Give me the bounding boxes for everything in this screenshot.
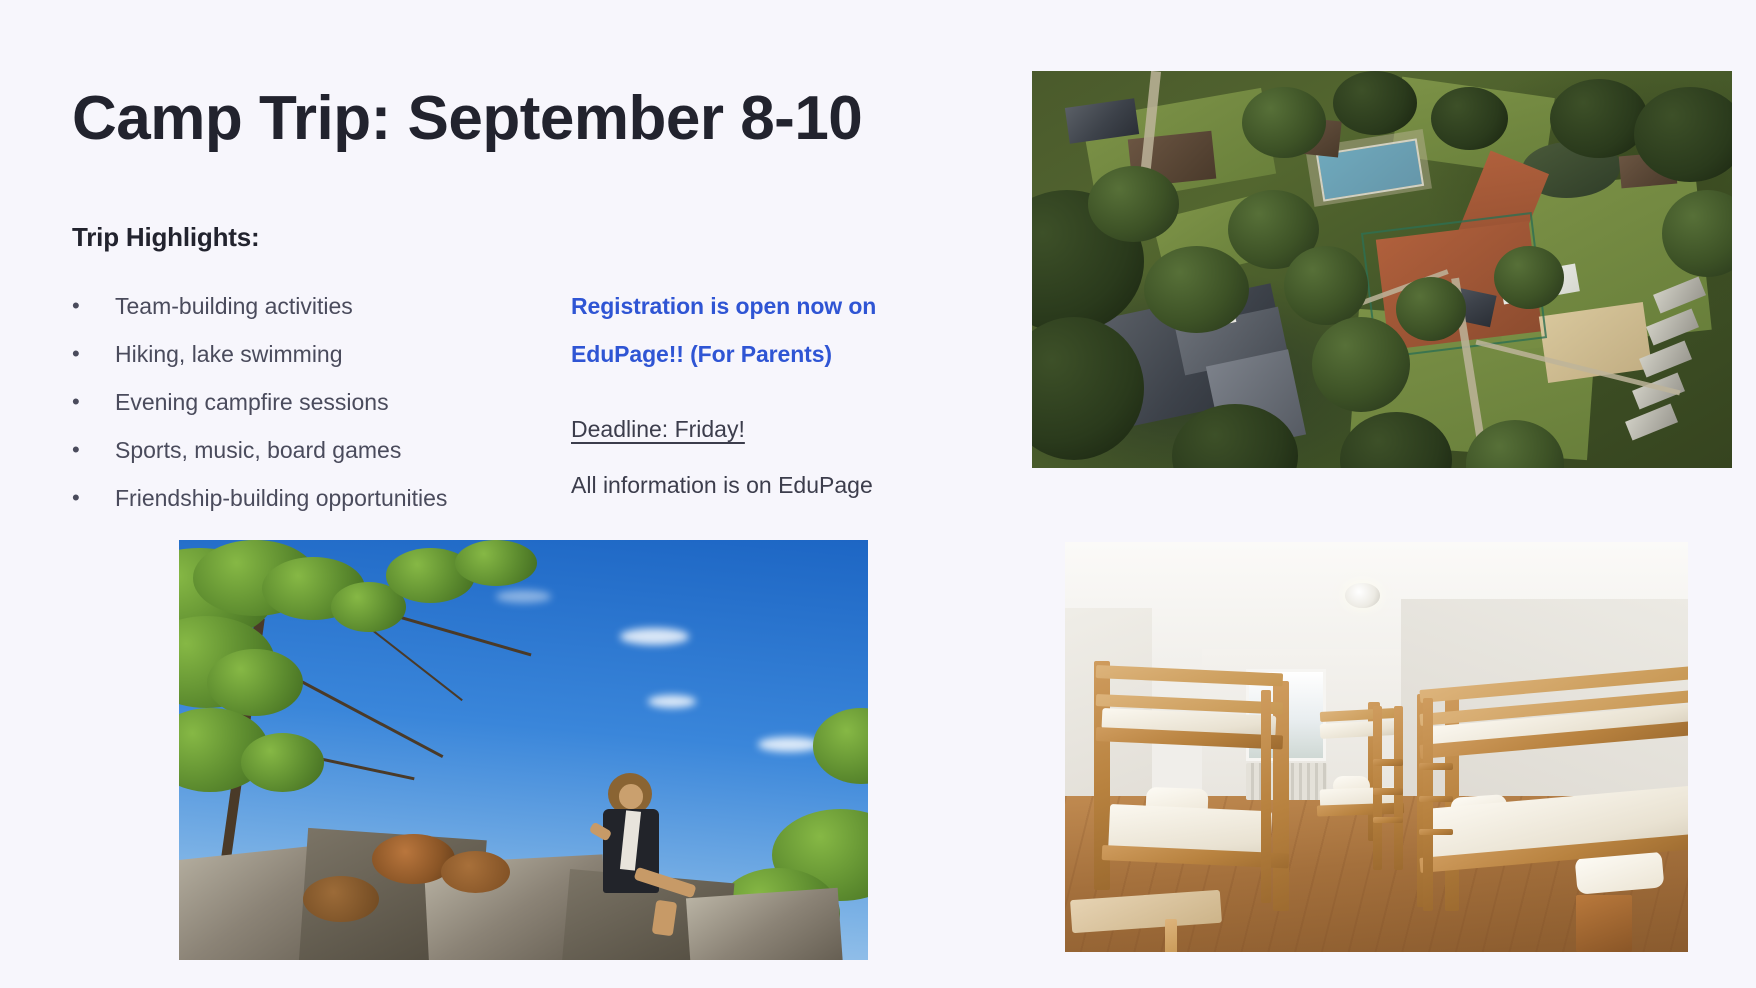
bunk-room-photo xyxy=(1065,542,1688,952)
aerial-camp-scene xyxy=(1032,71,1732,468)
list-item: • Hiking, lake swimming xyxy=(72,330,542,378)
trip-highlights-heading: Trip Highlights: xyxy=(72,222,259,253)
tree xyxy=(1333,71,1417,135)
tree xyxy=(1284,246,1368,325)
list-item-label: Team-building activities xyxy=(115,293,353,319)
cloud xyxy=(620,628,689,645)
leaf-cluster xyxy=(207,649,303,716)
cloud xyxy=(496,590,551,603)
ladder-step xyxy=(1419,796,1453,802)
bullet-icon: • xyxy=(72,426,88,474)
list-item-label: Sports, music, board games xyxy=(115,437,401,463)
table-leg xyxy=(1165,919,1177,952)
tree xyxy=(1242,87,1326,158)
cloud xyxy=(648,695,696,708)
hiking-scene xyxy=(179,540,868,960)
tree xyxy=(1396,277,1466,341)
leaf-cluster xyxy=(455,540,538,586)
bunk-ladder-rail xyxy=(1261,690,1271,903)
ladder-step xyxy=(1373,788,1403,795)
tree xyxy=(1494,246,1564,310)
registration-headline: Registration is open now on EduPage!! (F… xyxy=(571,282,941,378)
cloud xyxy=(758,737,820,752)
information-text: All information is on EduPage xyxy=(571,472,941,499)
ceiling-light xyxy=(1345,583,1379,608)
list-item: • Team-building activities xyxy=(72,282,542,330)
ladder-step xyxy=(1373,817,1403,824)
list-item-label: Evening campfire sessions xyxy=(115,389,389,415)
dry-brush xyxy=(441,851,510,893)
presentation-slide: Camp Trip: September 8-10 Trip Highlight… xyxy=(0,0,1756,988)
list-item: • Evening campfire sessions xyxy=(72,378,542,426)
dry-brush xyxy=(303,876,379,922)
hiker-head xyxy=(619,784,644,809)
deadline-text: Deadline: Friday! xyxy=(571,416,745,443)
tree xyxy=(1431,87,1508,151)
bunk-room-scene xyxy=(1065,542,1688,952)
ladder-step xyxy=(1373,759,1403,766)
bullet-icon: • xyxy=(72,282,88,330)
bed-footboard xyxy=(1576,895,1632,952)
hiking-photo xyxy=(179,540,868,960)
registration-notice: Registration is open now on EduPage!! (F… xyxy=(571,282,941,499)
ladder-step xyxy=(1419,763,1453,769)
bullet-icon: • xyxy=(72,378,88,426)
tree xyxy=(1144,246,1249,333)
aerial-camp-photo xyxy=(1032,71,1732,468)
page-title: Camp Trip: September 8-10 xyxy=(72,84,862,153)
trip-highlights-list: • Team-building activities • Hiking, lak… xyxy=(72,282,542,522)
rock-outcrop xyxy=(686,888,844,960)
leaf-cluster xyxy=(241,733,324,792)
list-item-label: Friendship-building opportunities xyxy=(115,485,447,511)
tree xyxy=(1550,79,1648,158)
tree xyxy=(1312,317,1410,412)
list-item-label: Hiking, lake swimming xyxy=(115,341,343,367)
tree xyxy=(1088,166,1179,241)
bullet-icon: • xyxy=(72,474,88,522)
bullet-icon: • xyxy=(72,330,88,378)
ladder-step xyxy=(1419,829,1453,835)
bunk-ladder-rail xyxy=(1423,698,1432,911)
list-item: • Friendship-building opportunities xyxy=(72,474,542,522)
list-item: • Sports, music, board games xyxy=(72,426,542,474)
